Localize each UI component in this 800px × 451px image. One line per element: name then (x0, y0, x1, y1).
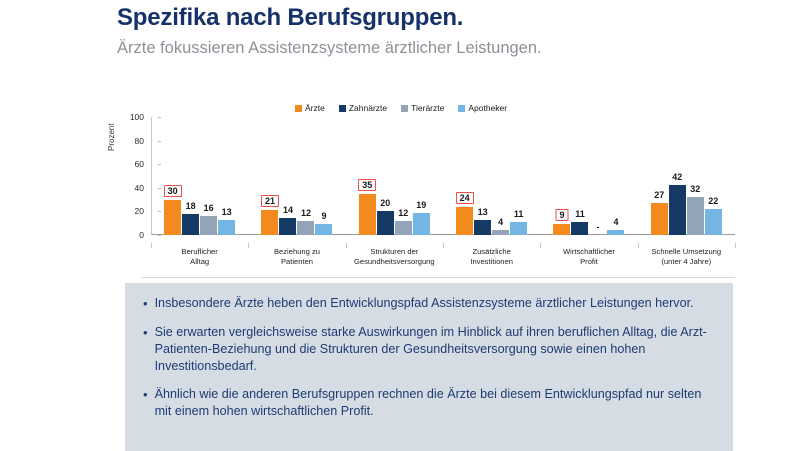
y-axis-tick-label: 100 (120, 112, 144, 122)
bar-column[interactable]: 12 (297, 117, 314, 235)
list-item: •Sie erwarten vergleichsweise starke Aus… (143, 324, 715, 375)
y-axis-tick-label: 80 (120, 136, 144, 146)
bar-value-label: 22 (708, 196, 718, 206)
bar-column[interactable]: 9 (315, 117, 332, 235)
legend-label: Ärzte (305, 103, 325, 113)
chart-bottom-rule (141, 277, 735, 278)
x-axis-category-label: Strukturen derGesundheitsversorgung (346, 247, 443, 268)
bar-column[interactable]: 4 (492, 117, 509, 235)
bar-column[interactable]: 35 (359, 117, 376, 235)
bar[interactable] (279, 218, 296, 235)
page-subtitle: Ärzte fokussieren Assistenzsysteme ärztl… (117, 39, 777, 59)
bar[interactable] (492, 230, 509, 235)
bar-value-label: 9 (555, 209, 568, 221)
bar-column[interactable]: 11 (571, 117, 588, 235)
page-title: Spezifika nach Berufsgruppen. (117, 4, 777, 33)
bar[interactable] (164, 200, 181, 235)
x-axis-category-label: BeruflicherAlltag (151, 247, 248, 268)
bar-value-label: 11 (514, 209, 524, 219)
x-axis-category-label: Beziehung zuPatienten (248, 247, 345, 268)
list-item: •Ähnlich wie die anderen Berufsgruppen r… (143, 386, 715, 420)
y-axis-ticks: 020406080100 (120, 117, 148, 235)
legend-swatch-icon (339, 105, 346, 112)
bar-value-label: 42 (672, 172, 682, 182)
bar-value-label: 24 (456, 192, 474, 204)
y-axis-tick-label: 60 (120, 159, 144, 169)
bar[interactable] (377, 211, 394, 235)
bar-column[interactable]: 16 (200, 117, 217, 235)
bar-column[interactable]: 18 (182, 117, 199, 235)
bar[interactable] (651, 203, 668, 235)
bar-value-label: 12 (398, 208, 408, 218)
bar-column[interactable]: 13 (474, 117, 491, 235)
list-item: •Insbesondere Ärzte heben den Entwicklun… (143, 295, 715, 313)
bar[interactable] (510, 222, 527, 235)
bar[interactable] (261, 210, 278, 235)
bar-value-label: 35 (358, 179, 376, 191)
bar-group: 35201219 (346, 117, 443, 235)
bar-value-label: 30 (164, 185, 182, 197)
bar-group: 911-4 (540, 117, 637, 235)
bar-column[interactable]: 42 (669, 117, 686, 235)
bar-column[interactable]: 32 (687, 117, 704, 235)
y-axis-tick-label: 0 (120, 230, 144, 240)
legend-swatch-icon (295, 105, 302, 112)
bullet-dot-icon: • (143, 295, 148, 313)
bar-column[interactable]: - (589, 117, 606, 235)
bar[interactable] (607, 230, 624, 235)
bar-group: 27423222 (638, 117, 735, 235)
bar-value-label: - (596, 222, 599, 232)
legend-swatch-icon (458, 105, 465, 112)
x-axis-category-label: WirtschaftlicherProfit (540, 247, 637, 268)
bar-column[interactable]: 9 (553, 117, 570, 235)
legend-item[interactable]: Ärzte (295, 103, 325, 113)
legend-label: Zahnärzte (349, 103, 387, 113)
bar[interactable] (553, 224, 570, 235)
bar-column[interactable]: 22 (705, 117, 722, 235)
bar-group: 30181613 (151, 117, 248, 235)
y-axis-tick-mark (158, 235, 161, 236)
bar[interactable] (456, 207, 473, 235)
notes-panel: •Insbesondere Ärzte heben den Entwicklun… (125, 283, 733, 451)
bar-column[interactable]: 21 (261, 117, 278, 235)
note-text: Insbesondere Ärzte heben den Entwicklung… (155, 295, 694, 313)
bar-column[interactable]: 4 (607, 117, 624, 235)
bar[interactable] (182, 214, 199, 235)
bar-value-label: 4 (498, 217, 503, 227)
legend-label: Apotheker (468, 103, 507, 113)
bar[interactable] (297, 221, 314, 235)
bar-value-label: 12 (301, 208, 311, 218)
bar-column[interactable]: 27 (651, 117, 668, 235)
note-text: Sie erwarten vergleichsweise starke Ausw… (155, 324, 715, 375)
y-axis-tick-label: 20 (120, 206, 144, 216)
bar[interactable] (669, 185, 686, 235)
bar-value-label: 14 (283, 205, 293, 215)
bar-column[interactable]: 13 (218, 117, 235, 235)
slide-header: Spezifika nach Berufsgruppen. Ärzte foku… (117, 4, 777, 59)
note-text: Ähnlich wie die anderen Berufsgruppen re… (155, 386, 715, 420)
bar-value-label: 13 (222, 207, 232, 217)
bar-group: 2413411 (443, 117, 540, 235)
bar[interactable] (687, 197, 704, 235)
bar-value-label: 32 (690, 184, 700, 194)
bar-column[interactable]: 24 (456, 117, 473, 235)
bar[interactable] (315, 224, 332, 235)
bar-value-label: 19 (416, 200, 426, 210)
bar-column[interactable]: 20 (377, 117, 394, 235)
bar-column[interactable]: 11 (510, 117, 527, 235)
x-axis-labels: BeruflicherAlltagBeziehung zuPatientenSt… (151, 247, 735, 268)
bar-value-label: 4 (613, 217, 618, 227)
bar-value-label: 21 (261, 195, 279, 207)
bar-value-label: 27 (654, 190, 664, 200)
bar-groups: 301816132114129352012192413411911-427423… (151, 117, 735, 235)
bar-value-label: 18 (186, 201, 196, 211)
bar-column[interactable]: 14 (279, 117, 296, 235)
legend-swatch-icon (401, 105, 408, 112)
bar[interactable] (218, 220, 235, 235)
x-axis-separator (735, 243, 736, 248)
bar[interactable] (359, 194, 376, 235)
bar-column[interactable]: 30 (164, 117, 181, 235)
legend-item[interactable]: Tierärzte (401, 103, 444, 113)
chart-legend: ÄrzteZahnärzteTierärzteApotheker (295, 103, 507, 113)
bar-value-label: 16 (204, 203, 214, 213)
y-axis-tick-label: 40 (120, 183, 144, 193)
bar-value-label: 20 (380, 198, 390, 208)
bar-value-label: 13 (478, 207, 488, 217)
bar-column[interactable]: 19 (413, 117, 430, 235)
legend-label: Tierärzte (411, 103, 444, 113)
bullet-dot-icon: • (143, 386, 148, 420)
bar[interactable] (395, 221, 412, 235)
x-axis-category-label: Schnelle Umsetzung(unter 4 Jahre) (638, 247, 735, 268)
x-axis-category-label: ZusätzlicheInvestitionen (443, 247, 540, 268)
bar[interactable] (413, 213, 430, 235)
bullet-dot-icon: • (143, 324, 148, 375)
bar-value-label: 11 (575, 209, 585, 219)
bar-column[interactable]: 12 (395, 117, 412, 235)
bar[interactable] (705, 209, 722, 235)
chart-plot-wrapper: Prozent 020406080100 3018161321141293520… (110, 117, 735, 247)
bar[interactable] (571, 222, 588, 235)
legend-item[interactable]: Apotheker (458, 103, 507, 113)
bar[interactable] (474, 220, 491, 235)
legend-item[interactable]: Zahnärzte (339, 103, 387, 113)
bar-value-label: 9 (321, 211, 326, 221)
bar-group: 2114129 (248, 117, 345, 235)
bar[interactable] (200, 216, 217, 235)
y-axis-title: Prozent (107, 123, 116, 151)
